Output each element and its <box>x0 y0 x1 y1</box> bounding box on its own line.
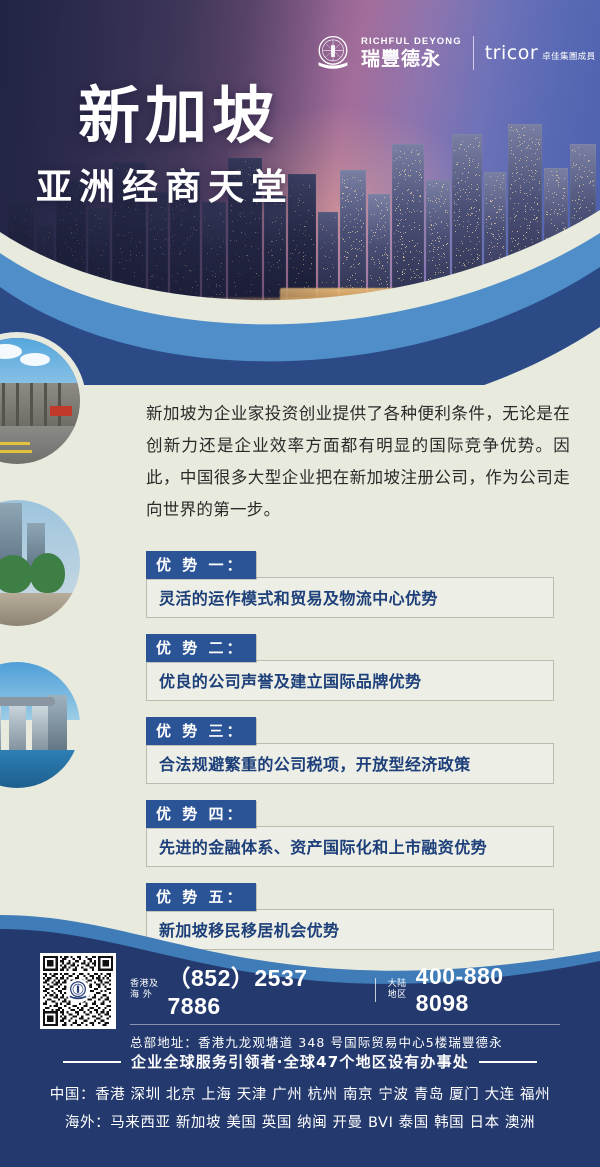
contact-details: 香港及 海 外 （852）2537 7886 大陆 地区 400-880 809… <box>130 953 560 1051</box>
footer: 香港及 海 外 （852）2537 7886 大陆 地区 400-880 809… <box>0 915 600 1167</box>
phone-hk-number[interactable]: （852）2537 7886 <box>168 959 363 1020</box>
phone-cn-number[interactable]: 400-880 8098 <box>416 963 560 1017</box>
company-crest-icon <box>312 32 354 74</box>
hero-subtitle: 亚洲经商天堂 <box>36 170 294 206</box>
advantage-text: 优良的公司声誉及建立国际品牌优势 <box>146 660 554 701</box>
advantage-item: 优 势 三： 合法规避繁重的公司税项，开放型经济政策 <box>146 717 554 784</box>
hero-title: 新加坡 <box>78 85 279 147</box>
advantage-text: 灵活的运作模式和贸易及物流中心优势 <box>146 577 554 618</box>
qr-center-logo-icon <box>66 979 90 1003</box>
qr-code[interactable] <box>40 953 116 1029</box>
advantage-badge: 优 势 四： <box>146 800 256 828</box>
advantage-text: 合法规避繁重的公司税项，开放型经济政策 <box>146 743 554 784</box>
logo-chinese-name: 瑞豐德永 <box>361 50 462 69</box>
tagline-rule-right <box>479 1061 537 1063</box>
tagline-rule-left <box>63 1061 121 1063</box>
logo-divider <box>473 36 474 70</box>
advantage-badge: 优 势 一： <box>146 551 256 579</box>
tagline-row: 企业全球服务引领者·全球47个地区设有办事处 <box>0 1051 600 1072</box>
photo-shophouse-street <box>0 338 80 464</box>
phone-divider <box>375 978 376 1002</box>
tagline-text: 企业全球服务引领者·全球47个地区设有办事处 <box>131 1051 469 1072</box>
regions-overseas: 海外：马来西亚 新加坡 美国 英国 纳闽 开曼 BVI 泰国 韩国 日本 澳洲 <box>0 1109 600 1137</box>
poster-root: RICHFUL DEYONG 瑞豐德永 tricor 卓佳集團成員 新加坡 亚洲… <box>0 0 600 1167</box>
regions-china: 中国：香港 深圳 北京 上海 天津 广州 杭州 南京 宁波 青岛 厦门 大连 福… <box>0 1081 600 1109</box>
advantage-badge: 优 势 三： <box>146 717 256 745</box>
partner-logo-subtext: 卓佳集團成員 <box>542 50 595 64</box>
advantage-item: 优 势 四： 先进的金融体系、资产国际化和上市融资优势 <box>146 800 554 867</box>
advantage-list: 优 势 一： 灵活的运作模式和贸易及物流中心优势 优 势 二： 优良的公司声誉及… <box>146 551 554 966</box>
advantage-badge: 优 势 二： <box>146 634 256 662</box>
advantage-item: 优 势 二： 优良的公司声誉及建立国际品牌优势 <box>146 634 554 701</box>
brand-logo: RICHFUL DEYONG 瑞豐德永 tricor 卓佳集團成員 <box>312 32 596 74</box>
advantage-item: 优 势 一： 灵活的运作模式和贸易及物流中心优势 <box>146 551 554 618</box>
head-office-address: 总部地址：香港九龙观塘道 348 号国际贸易中心5楼瑞豐德永 <box>130 1032 560 1051</box>
advantage-text: 先进的金融体系、资产国际化和上市融资优势 <box>146 826 554 867</box>
decorative-arcs <box>0 215 600 385</box>
phone-cn-label: 大陆 地区 <box>388 979 407 1001</box>
advantage-badge: 优 势 五： <box>146 883 256 911</box>
intro-paragraph: 新加坡为企业家投资创业提供了各种便利条件，无论是在创新力还是企业效率方面都有明显… <box>146 398 570 526</box>
photo-marina-bay-sands <box>0 662 80 788</box>
logo-english-name: RICHFUL DEYONG <box>361 37 462 47</box>
contact-block: 香港及 海 外 （852）2537 7886 大陆 地区 400-880 809… <box>40 953 560 1051</box>
phone-hk-label: 香港及 海 外 <box>130 979 159 1001</box>
regions-block: 中国：香港 深圳 北京 上海 天津 广州 杭州 南京 宁波 青岛 厦门 大连 福… <box>0 1081 600 1137</box>
crest-mini-icon <box>67 980 89 1002</box>
phone-row: 香港及 海 外 （852）2537 7886 大陆 地区 400-880 809… <box>130 959 560 1025</box>
qr-code-canvas <box>43 956 113 1026</box>
partner-logo-text: tricor <box>485 42 538 64</box>
photo-riverside-trees <box>0 500 80 626</box>
